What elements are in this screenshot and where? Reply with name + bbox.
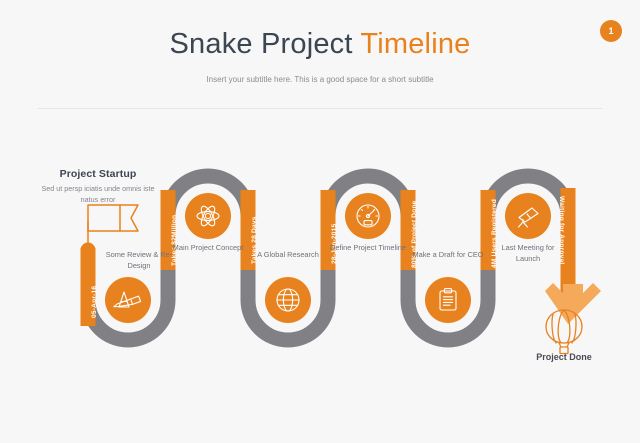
node-circle-2 bbox=[185, 193, 231, 239]
arrow-down-icon bbox=[545, 283, 601, 324]
flag-icon bbox=[88, 205, 138, 248]
node-caption-1: Some Review & Re-Design bbox=[101, 250, 177, 271]
node-caption-4: Define Project Timeline bbox=[330, 243, 406, 254]
node-caption-5: Make a Draft for CEO bbox=[410, 250, 486, 261]
intro-title: Project Startup bbox=[36, 168, 160, 180]
end-caption: Project Done bbox=[516, 352, 612, 362]
slide-canvas: 1 Snake Project Timeline Insert your sub… bbox=[0, 0, 640, 443]
node-caption-6: Last Meeting for Launch bbox=[490, 243, 566, 264]
snake-timeline: 05-Apr-16 Takes $2Million Takes 28 Days … bbox=[0, 0, 640, 443]
band-label-1: 05-Apr-16 bbox=[91, 286, 98, 318]
node-caption-3: A Global Research bbox=[250, 250, 326, 261]
node-caption-2: Main Project Concept bbox=[170, 243, 246, 254]
intro-body: Sed ut persp iciatis unde omnis iste nat… bbox=[36, 184, 160, 206]
snake-path-graphic bbox=[0, 0, 640, 443]
intro-block: Project Startup Sed ut persp iciatis und… bbox=[36, 168, 160, 206]
